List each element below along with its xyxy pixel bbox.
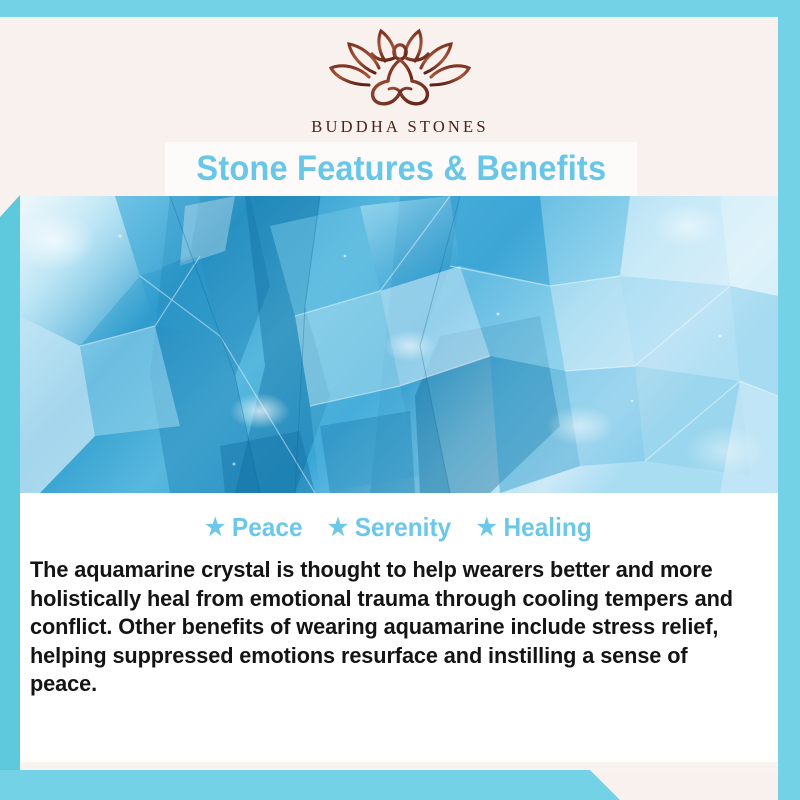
stone-description: The aquamarine crystal is thought to hel… [30, 556, 744, 699]
hero-image: Aquamarine [20, 196, 778, 493]
benefit-item-serenity: ★ Serenity [328, 512, 451, 543]
frame-right-bar [778, 0, 800, 800]
infographic-page: BUDDHA STONES Stone Features & Benefits [0, 0, 800, 800]
brand-logo: BUDDHA STONES [0, 27, 800, 137]
page-title-banner: Stone Features & Benefits [165, 142, 637, 196]
star-icon: ★ [477, 516, 497, 540]
star-icon: ★ [328, 516, 348, 540]
frame-left-bar [0, 195, 20, 795]
page-title: Stone Features & Benefits [196, 149, 606, 189]
benefit-item-healing: ★ Healing [477, 512, 592, 543]
brand-name: BUDDHA STONES [311, 117, 488, 137]
benefit-label: Serenity [355, 512, 451, 543]
crystal-texture-graphic [20, 196, 778, 493]
benefit-label: Healing [504, 512, 592, 543]
frame-top-bar [0, 0, 800, 17]
lotus-meditation-icon [325, 27, 475, 111]
benefit-item-peace: ★ Peace [205, 512, 302, 543]
star-icon: ★ [205, 516, 225, 540]
frame-bottom-bar [0, 770, 640, 800]
benefits-row: ★ Peace ★ Serenity ★ Healing [20, 512, 778, 543]
benefit-label: Peace [232, 512, 303, 543]
